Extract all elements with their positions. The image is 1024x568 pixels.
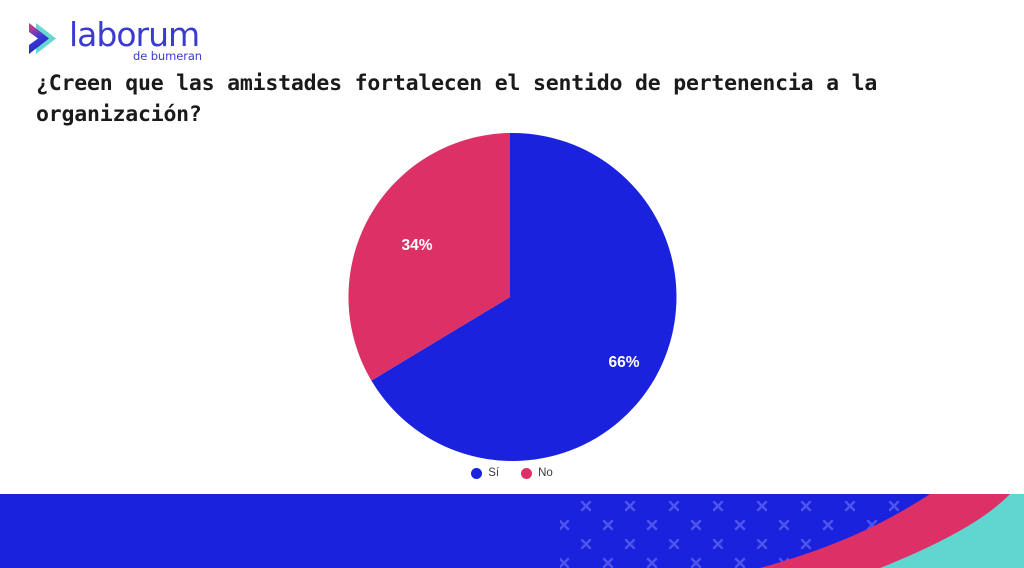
chevron-logo-mark-icon bbox=[22, 16, 68, 62]
laborum-logo[interactable]: laborum de bumeran bbox=[22, 14, 252, 66]
slide-canvas: laborum de bumeran ¿Creen que las amista… bbox=[0, 0, 1024, 568]
legend-swatch-si-icon bbox=[471, 468, 482, 479]
pie-chart-region: 34% 66% Sí No bbox=[0, 128, 1024, 488]
legend-swatch-no-icon bbox=[521, 468, 532, 479]
pie-chart-svg: 34% 66% bbox=[345, 132, 675, 462]
chart-legend: Sí No bbox=[0, 468, 1024, 480]
footer-band-svg bbox=[0, 494, 1024, 568]
logo-tagline-text: de bumeran bbox=[133, 49, 202, 63]
legend-item-si[interactable]: Sí bbox=[471, 468, 499, 480]
pie-slice-label-si: 66% bbox=[608, 354, 639, 371]
legend-label-no: No bbox=[538, 468, 553, 480]
legend-label-si: Sí bbox=[488, 468, 499, 480]
pie-chart[interactable]: 34% 66% bbox=[345, 132, 675, 462]
page-title: ¿Creen que las amistades fortalecen el s… bbox=[36, 68, 936, 130]
pie-slice-label-no: 34% bbox=[401, 237, 432, 254]
decorative-footer-band bbox=[0, 494, 1024, 568]
logo-wordmark: laborum de bumeran bbox=[69, 13, 249, 65]
legend-item-no[interactable]: No bbox=[521, 468, 553, 480]
